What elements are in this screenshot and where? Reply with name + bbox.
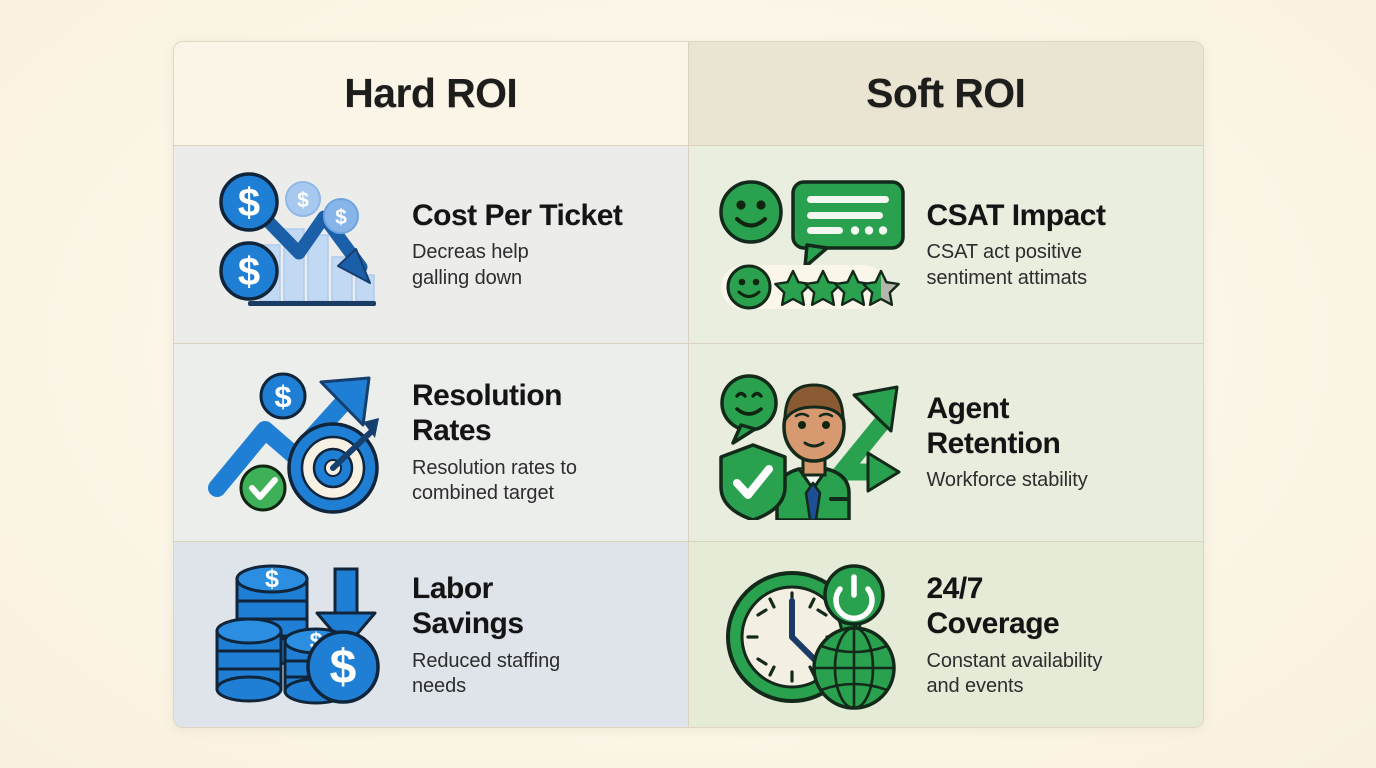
cell-24-7-coverage: 24/7 Coverage Constant availability and … — [689, 541, 1204, 728]
subtitle-line-2: galling down — [412, 266, 672, 292]
rising-arrow-target-dollar-check-icon: $ — [198, 368, 398, 518]
roi-comparison-card: Hard ROI Soft ROI — [173, 41, 1204, 728]
cell-subtitle-labor-savings: Reduced staffing needs — [412, 649, 672, 700]
smiley-chat-star-rating-icon — [713, 175, 913, 315]
svg-text:$: $ — [237, 250, 259, 294]
title-line-1: Resolution — [412, 378, 672, 413]
dollar-coins-declining-chart-icon: $ $ $ $ — [198, 171, 398, 319]
coin-stacks-down-arrow-icon: $ — [198, 561, 398, 711]
svg-text:$: $ — [335, 206, 347, 229]
subtitle-line-1: CSAT act positive — [927, 240, 1188, 266]
svg-text:$: $ — [330, 641, 357, 694]
clock-globe-power-icon — [713, 561, 913, 711]
cell-subtitle-cost-per-ticket: Decreas help galling down — [412, 240, 672, 291]
svg-text:$: $ — [297, 189, 309, 212]
agent-person-shield-check-arrows-icon — [713, 365, 913, 520]
subtitle-line-2: and events — [927, 674, 1188, 700]
cell-title-csat-impact: CSAT Impact — [927, 198, 1188, 233]
column-header-hard-roi: Hard ROI — [174, 42, 689, 145]
column-header-soft-roi: Soft ROI — [689, 42, 1204, 145]
cell-title-agent-retention: Agent Retention — [927, 391, 1188, 461]
cell-resolution-rates: $ Resolution — [174, 343, 689, 541]
cell-csat-impact: CSAT Impact CSAT act positive sentiment … — [689, 145, 1204, 343]
subtitle-line-1: Resolution rates to — [412, 456, 672, 482]
column-header-soft-roi-label: Soft ROI — [866, 70, 1025, 117]
title-line-2: Coverage — [927, 606, 1188, 641]
subtitle-line-2: sentiment attimats — [927, 266, 1188, 292]
cell-labor-savings: $ — [174, 541, 689, 728]
subtitle-line-2: combined target — [412, 481, 672, 507]
svg-text:$: $ — [265, 565, 279, 593]
subtitle-line-1: Reduced staffing — [412, 649, 672, 675]
cell-title-24-7-coverage: 24/7 Coverage — [927, 571, 1188, 641]
column-header-hard-roi-label: Hard ROI — [344, 70, 517, 117]
cell-subtitle-resolution-rates: Resolution rates to combined target — [412, 456, 672, 507]
title-line-1: Agent — [927, 391, 1188, 426]
cell-subtitle-agent-retention: Workforce stability — [927, 468, 1188, 494]
title-line-1: 24/7 — [927, 571, 1188, 606]
title-line-1: Labor — [412, 571, 672, 606]
infographic-canvas: Hard ROI Soft ROI — [0, 0, 1376, 768]
svg-text:$: $ — [237, 181, 259, 225]
cell-subtitle-csat-impact: CSAT act positive sentiment attimats — [927, 240, 1188, 291]
cell-title-cost-per-ticket: Cost Per Ticket — [412, 198, 672, 233]
title-line-2: Savings — [412, 606, 672, 641]
cell-cost-per-ticket: $ $ $ $ Cost Per Ticket Decreas help g — [174, 145, 689, 343]
title-line-2: Retention — [927, 426, 1188, 461]
subtitle-line-1: Decreas help — [412, 240, 672, 266]
cell-subtitle-24-7-coverage: Constant availability and events — [927, 649, 1188, 700]
title-line-2: Rates — [412, 413, 672, 448]
cell-title-labor-savings: Labor Savings — [412, 571, 672, 641]
subtitle-line-1: Workforce stability — [927, 468, 1188, 494]
subtitle-line-2: needs — [412, 674, 672, 700]
svg-text:$: $ — [274, 379, 291, 414]
cell-title-resolution-rates: Resolution Rates — [412, 378, 672, 448]
cell-agent-retention: Agent Retention Workforce stability — [689, 343, 1204, 541]
subtitle-line-1: Constant availability — [927, 649, 1188, 675]
